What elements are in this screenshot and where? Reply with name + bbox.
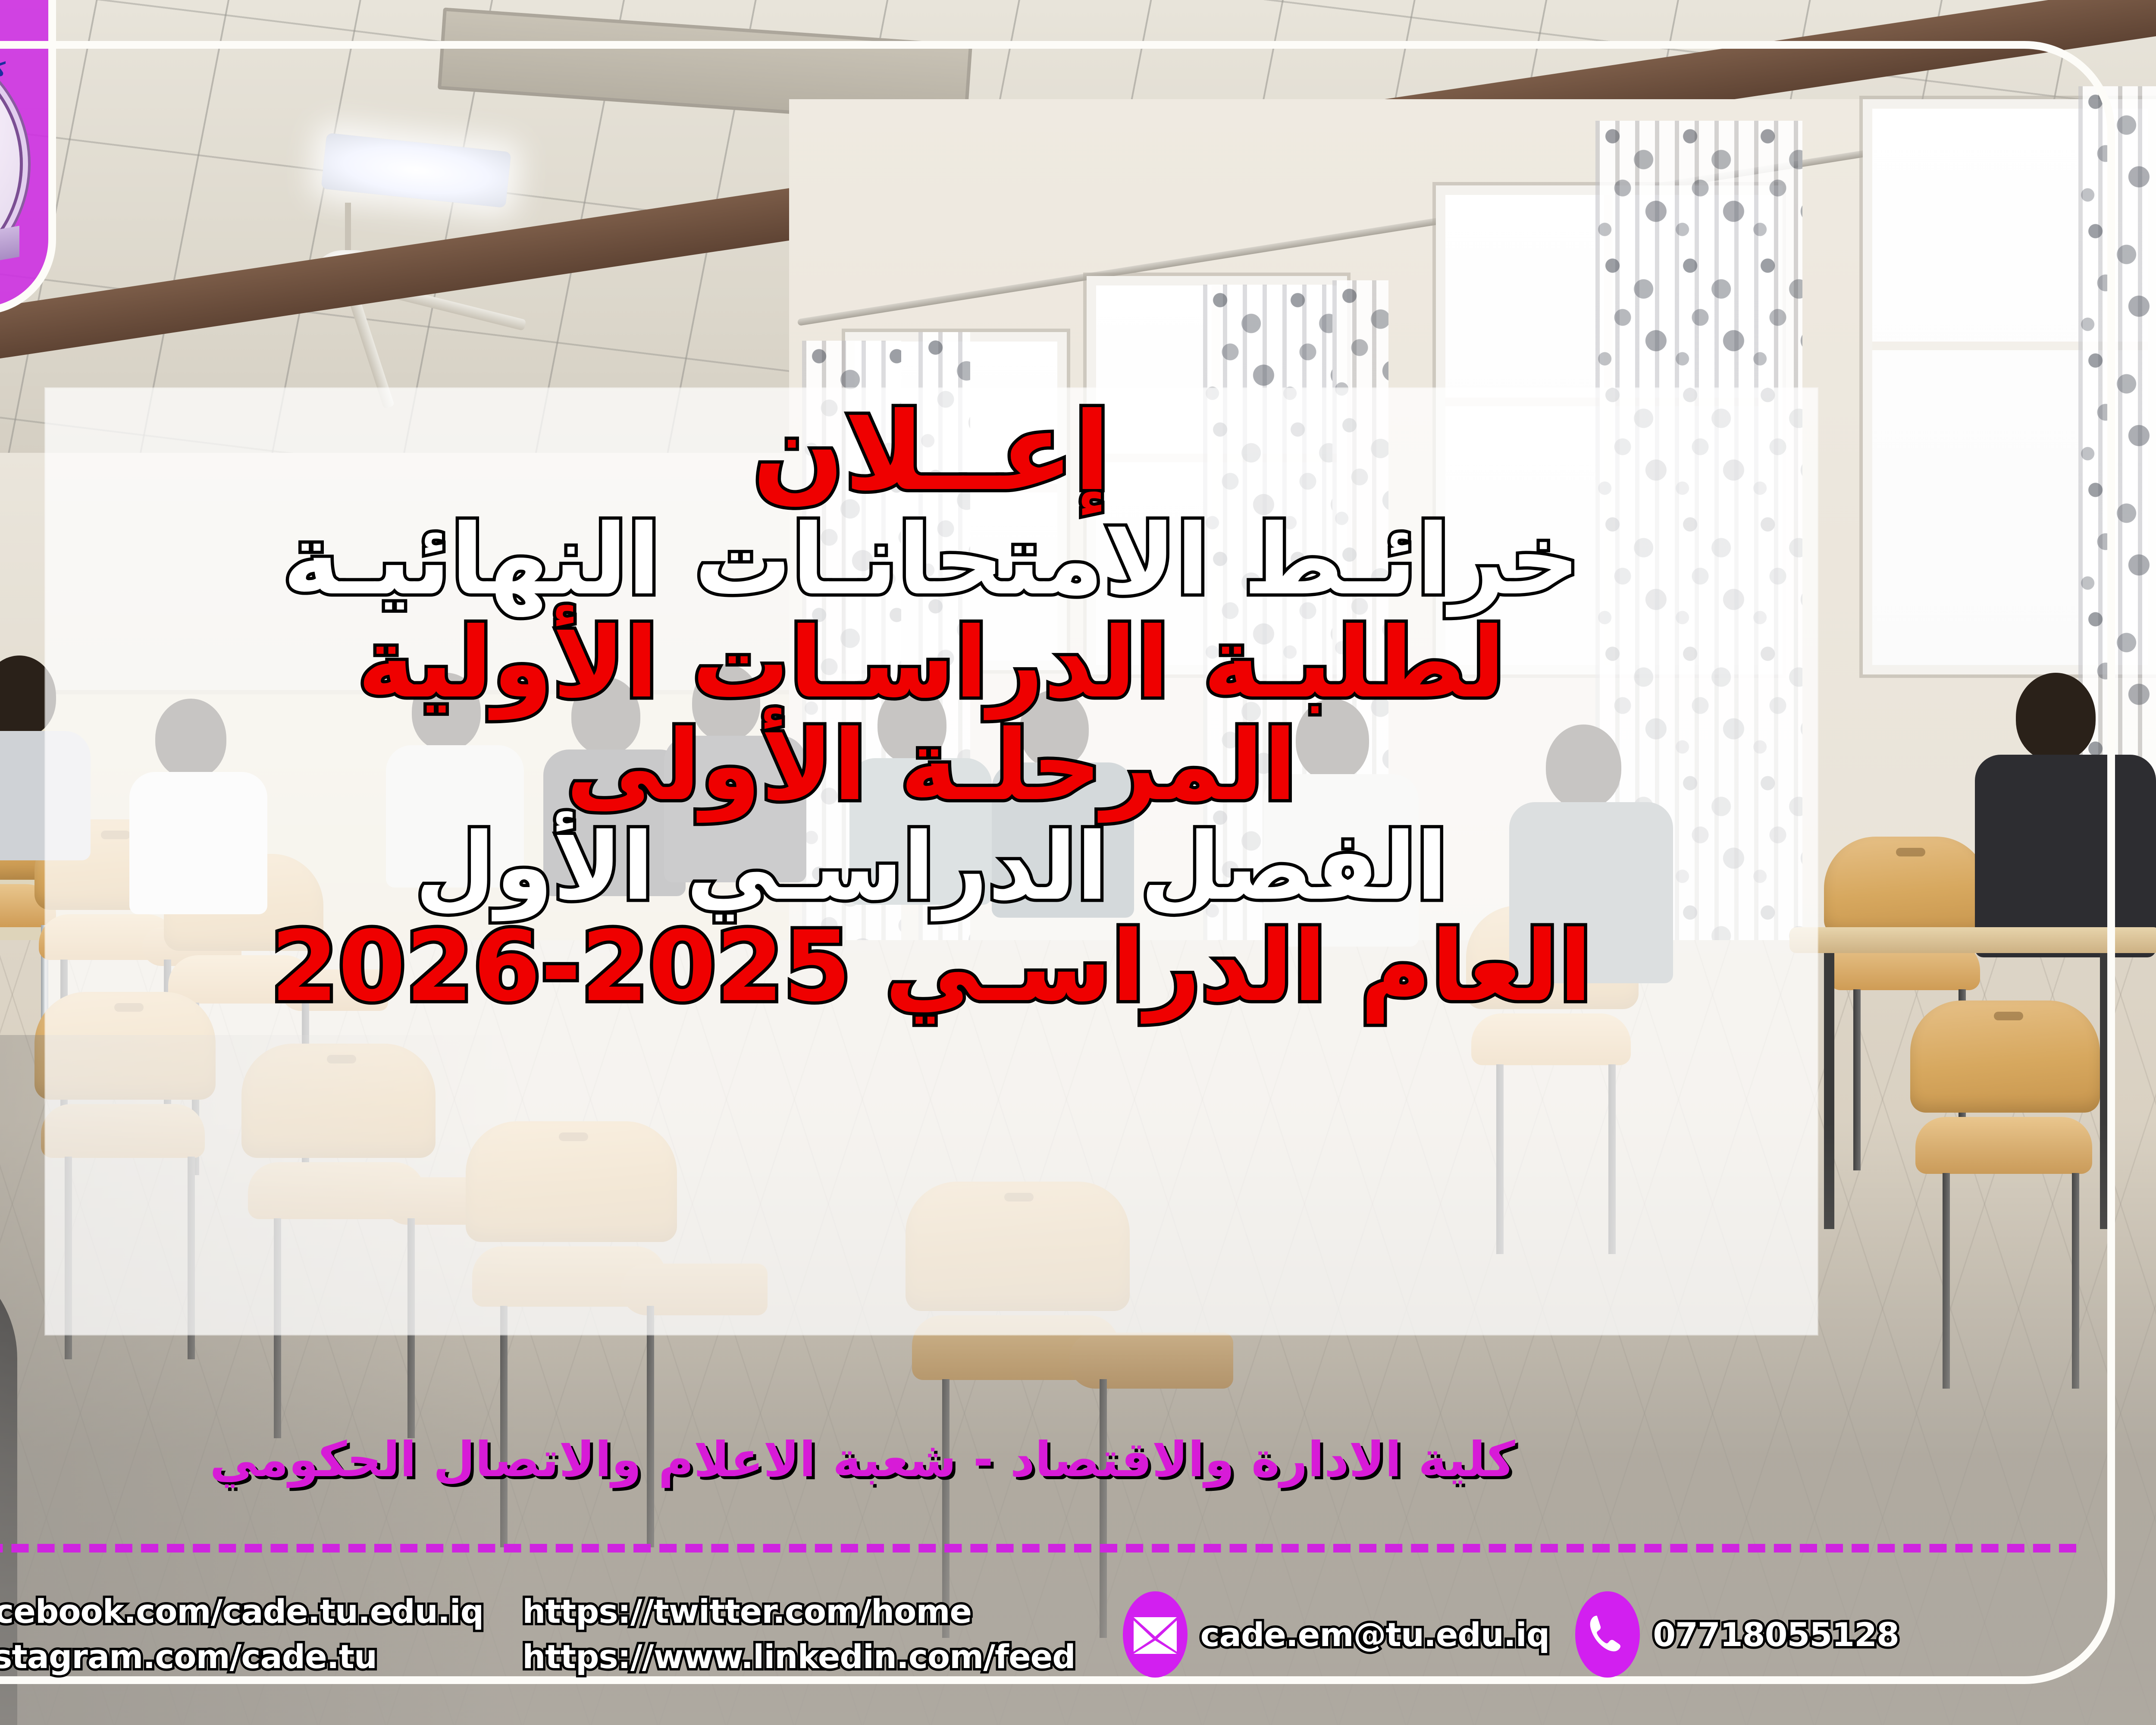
footer-web-links: https://www.facebook.com/cade.tu.edu.iq … <box>0 1589 483 1680</box>
footer-dashed-divider <box>0 1544 2076 1552</box>
announcement-line-5: الفصل الدراسـي الأول <box>415 818 1448 916</box>
ceiling-fan-rod <box>345 203 351 254</box>
footer-social-links: https://twitter.com/home https://www.lin… <box>522 1589 1075 1680</box>
announcement-title-block: إعــلان خرائـط الامتحانـات النهائيـة لطل… <box>45 390 1818 1335</box>
phone-number[interactable]: 07718055128 <box>1653 1615 1899 1654</box>
twitter-url[interactable]: https://twitter.com/home <box>522 1589 1075 1634</box>
announcement-line-1: إعــلان <box>752 395 1111 509</box>
facebook-url[interactable]: https://www.facebook.com/cade.tu.edu.iq <box>0 1589 483 1634</box>
department-credit-line: كلية الادارة والاقتصاد - شعبة الاعلام وا… <box>0 1432 2156 1488</box>
announcement-line-2: خرائـط الامتحانـات النهائيـة <box>283 509 1580 612</box>
footer-phone-group: 07718055128 <box>1575 1591 1899 1678</box>
announcement-line-6: العام الدراسـي 2025-2026 <box>271 916 1592 1019</box>
announcement-poster: كلية الإدارة والاقتصاد كلية الادارة و ال… <box>0 0 2156 1725</box>
footer-contact-bar: https://www.facebook.com/cade.tu.edu.iq … <box>0 1572 2091 1697</box>
college-seal: كلية الإدارة والاقتصاد كلية الادارة و ال… <box>0 43 23 285</box>
email-address[interactable]: cade.em@tu.edu.iq <box>1200 1615 1550 1654</box>
envelope-icon[interactable] <box>1123 1591 1188 1678</box>
footer-web-group: https://www.facebook.com/cade.tu.edu.iq … <box>0 1589 483 1680</box>
announcement-line-4: المرحلـة الأولى <box>566 715 1297 818</box>
linkedin-url[interactable]: https://www.linkedin.com/feed <box>522 1634 1075 1680</box>
seal-arabic-top-label: كلية الإدارة والاقتصاد <box>0 58 23 81</box>
college-logo-badge: كلية الإدارة والاقتصاد كلية الادارة و ال… <box>0 0 56 315</box>
phone-icon[interactable] <box>1575 1591 1640 1678</box>
seal-micro-red-label: كلية الادارة و الاقتصاد <box>0 125 23 134</box>
footer-social-group: https://twitter.com/home https://www.lin… <box>509 1589 1075 1680</box>
instagram-url[interactable]: https://www.instagram.com/cade.tu <box>0 1634 483 1680</box>
footer-email-group: cade.em@tu.edu.iq <box>1123 1591 1550 1678</box>
announcement-line-3: لطلبـة الدراسـات الأولية <box>357 612 1505 715</box>
student-desk <box>1789 927 2156 953</box>
